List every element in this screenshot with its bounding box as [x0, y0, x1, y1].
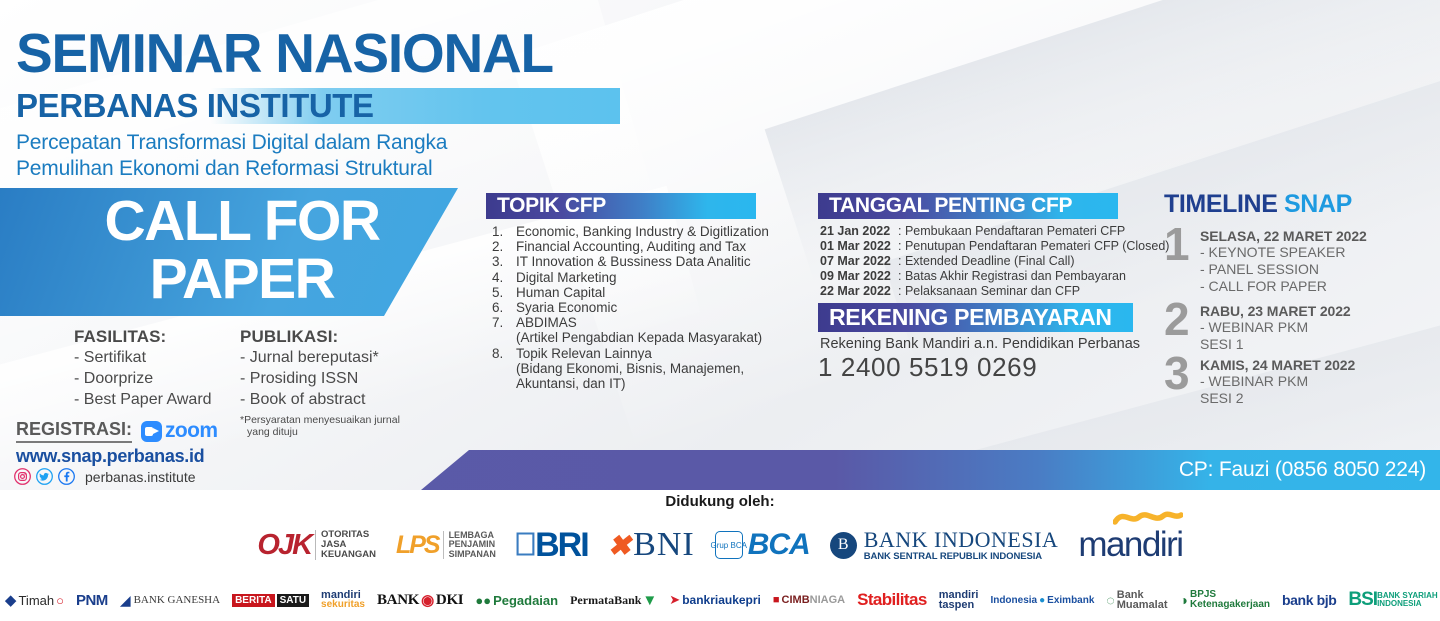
call-for-paper-text: CALL FOR PAPER	[62, 192, 422, 308]
list-item: 3.IT Innovation & Bussiness Data Analiti…	[492, 254, 792, 269]
banner-line-1: CALL FOR	[62, 192, 422, 250]
timeline-title-a: TIMELINE	[1164, 190, 1284, 218]
timeline-date: SELASA, 22 MARET 2022	[1200, 228, 1367, 244]
logo-timah: ◆Timah○	[5, 591, 64, 609]
registrasi-row: REGISTRASI: zoom	[16, 419, 217, 443]
timeline-item: 2 RABU, 23 MARET 2022 - WEBINAR PKM SESI…	[1164, 299, 1351, 353]
desc-cell: : Extended Deadline (Final Call)	[898, 254, 1074, 269]
list-text: Economic, Banking Industry & Digitlizati…	[516, 224, 769, 239]
topik-list: 1.Economic, Banking Industry & Digitliza…	[492, 224, 792, 391]
desc-cell: : Batas Akhir Registrasi dan Pembayaran	[898, 269, 1126, 284]
logo-bsi: BSIBANK SYARIAHINDONESIA	[1348, 589, 1437, 611]
timeline-line: - KEYNOTE SPEAKER	[1200, 244, 1367, 261]
bi-name: BANK INDONESIA	[864, 529, 1059, 551]
list-text: IT Innovation & Bussiness Data Analitic	[516, 254, 751, 269]
table-row: 01 Mar 2022: Penutupan Pendaftaran Pemat…	[820, 239, 1160, 254]
pegadaian-wordmark: Pegadaian	[493, 593, 558, 608]
permata-wordmark: PermataBank	[570, 593, 641, 608]
list-subtext: Akuntansi, dan IT)	[492, 376, 792, 391]
logo-mandiri-sekuritas: mandirisekuritas	[321, 590, 365, 610]
list-item: 8.Topik Relevan Lainnya	[492, 346, 792, 361]
timeline-line: SESI 2	[1200, 390, 1355, 407]
topik-heading: TOPIK CFP	[486, 193, 756, 219]
timeline-item: 1 SELASA, 22 MARET 2022 - KEYNOTE SPEAKE…	[1164, 224, 1367, 295]
timeline-line: SESI 1	[1200, 336, 1351, 353]
bjb-wordmark: bank bjb	[1282, 592, 1336, 608]
logo-bni: ✖ BNI	[608, 526, 695, 564]
cimb-a: CIMB	[782, 594, 810, 606]
bni-wordmark: BNI	[633, 526, 695, 564]
list-number: 1.	[492, 224, 516, 239]
fasilitas-heading: FASILITAS:	[74, 327, 212, 347]
website-link[interactable]: www.snap.perbanas.id	[16, 446, 204, 467]
video-camera-icon	[141, 421, 162, 442]
ojk-text-3: KEUANGAN	[321, 550, 376, 560]
bi-tagline: BANK SENTRAL REPUBLIK INDONESIA	[864, 551, 1059, 562]
bpjs-text: BPJSKetenagakerjaan	[1190, 590, 1270, 610]
bpjs-b: Ketenagakerjaan	[1190, 600, 1270, 610]
logo-bank-dki: BANK◉DKI	[377, 591, 463, 610]
bni-glyph: ✖	[608, 529, 631, 562]
mu-b: Muamalat	[1117, 600, 1168, 611]
logo-indonesia-eximbank: Indonesia●Eximbank	[990, 595, 1094, 606]
zoom-logo[interactable]: zoom	[141, 419, 217, 443]
facebook-icon[interactable]	[58, 468, 75, 485]
registrasi-label: REGISTRASI:	[16, 419, 132, 443]
publikasi-item: - Jurnal bereputasi*	[240, 347, 400, 368]
description-line-2: Pemulihan Ekonomi dan Reformasi Struktur…	[16, 156, 656, 182]
list-text: Financial Accounting, Auditing and Tax	[516, 239, 746, 254]
ms-b: sekuritas	[321, 600, 365, 610]
social-row: perbanas.institute	[14, 468, 196, 485]
bsi-wordmark: BSI	[1348, 589, 1377, 611]
timeline-number: 3	[1164, 353, 1200, 407]
pnm-wordmark: PNM	[76, 592, 108, 609]
publikasi-item: - Prosiding ISSN	[240, 368, 400, 389]
poster-root: SEMINAR NASIONAL PERBANAS INSTITUTE Perc…	[0, 0, 1440, 621]
bsi-text: BANK SYARIAHINDONESIA	[1377, 592, 1438, 609]
timeline-line: - PANEL SESSION	[1200, 261, 1367, 278]
timeline-body: KAMIS, 24 MARET 2022 - WEBINAR PKM SESI …	[1200, 353, 1355, 407]
zoom-wordmark: zoom	[165, 419, 217, 443]
logo-pnm: PNM	[76, 592, 108, 609]
list-text: Human Capital	[516, 285, 605, 300]
fasilitas-item: - Sertifikat	[74, 347, 212, 368]
bca-wordmark: BCA	[748, 528, 810, 562]
timeline-line: - WEBINAR PKM	[1200, 373, 1355, 390]
riau-wordmark: bankriaukepri	[682, 593, 761, 607]
supporters-secondary-row: bank✦victoria ◆Timah○ PNM ◢BANK GANESHA …	[0, 583, 1440, 617]
tanggal-penting-list: 21 Jan 2022: Pembukaan Pendaftaran Pemat…	[820, 224, 1160, 299]
timeline-date: RABU, 23 MARET 2022	[1200, 303, 1351, 319]
list-item: 5.Human Capital	[492, 285, 792, 300]
bri-wordmark: BRI	[535, 526, 588, 565]
date-cell: 09 Mar 2022	[820, 269, 898, 284]
publikasi-item: - Book of abstract	[240, 389, 400, 410]
desc-cell: : Penutupan Pendaftaran Pemateri CFP (Cl…	[898, 239, 1169, 254]
list-number: 8.	[492, 346, 516, 361]
bsi-sub: INDONESIA	[1377, 600, 1438, 609]
stabilitas-wordmark: Stabilitas	[857, 590, 927, 610]
page-description: Percepatan Transformasi Digital dalam Ra…	[16, 130, 656, 182]
date-cell: 21 Jan 2022	[820, 224, 898, 239]
supporters-primary-row: OJK OTORITAS JASA KEUANGAN LPS LEMBAGA P…	[0, 512, 1440, 578]
timeline-line: - WEBINAR PKM	[1200, 319, 1351, 336]
lps-text: LEMBAGA PENJAMIN SIMPANAN	[443, 531, 496, 560]
desc-cell: : Pembukaan Pendaftaran Pemateri CFP	[898, 224, 1125, 239]
logo-stabilitas: Stabilitas	[857, 590, 927, 610]
timeline-number: 1	[1164, 224, 1200, 295]
list-text: ABDIMAS	[516, 315, 577, 330]
page-subtitle: PERBANAS INSTITUTE	[16, 88, 374, 124]
logo-bank-bjb: bank bjb	[1282, 592, 1336, 608]
bank-indonesia-seal-icon: B	[830, 532, 857, 559]
ojk-text: OTORITAS JASA KEUANGAN	[315, 530, 376, 560]
logo-bpjs-ketenagakerjaan: ◑BPJSKetenagakerjaan	[1180, 590, 1271, 610]
instagram-icon[interactable]	[14, 468, 31, 485]
timeline-body: SELASA, 22 MARET 2022 - KEYNOTE SPEAKER …	[1200, 224, 1367, 295]
lps-text-3: SIMPANAN	[449, 550, 496, 560]
date-cell: 01 Mar 2022	[820, 239, 898, 254]
mt-b: taspen	[939, 600, 979, 610]
rekening-number: 1 2400 5519 0269	[818, 352, 1037, 383]
list-item: 6.Syaria Economic	[492, 300, 792, 315]
table-row: 09 Mar 2022: Batas Akhir Registrasi dan …	[820, 269, 1160, 284]
page-title: SEMINAR NASIONAL	[16, 26, 553, 81]
logo-pegadaian: ●●Pegadaian	[475, 593, 558, 608]
ex-b: Eximbank	[1047, 595, 1094, 606]
logo-bank-ganesha: ◢BANK GANESHA	[120, 592, 220, 609]
list-item: 4.Digital Marketing	[492, 270, 792, 285]
logo-bca: Grup BCA BCA	[715, 528, 810, 562]
lps-mark: LPS	[396, 531, 439, 560]
eximbank-text: Indonesia●Eximbank	[990, 595, 1094, 606]
table-row: 07 Mar 2022: Extended Deadline (Final Ca…	[820, 254, 1160, 269]
list-number: 6.	[492, 300, 516, 315]
table-row: 22 Mar 2022: Pelaksanaan Seminar dan CFP	[820, 284, 1160, 299]
tanggal-penting-heading: TANGGAL PENTING CFP	[818, 193, 1118, 219]
timeline-line: - CALL FOR PAPER	[1200, 278, 1367, 295]
date-cell: 22 Mar 2022	[820, 284, 898, 299]
list-item: 7.ABDIMAS	[492, 315, 792, 330]
list-number: 5.	[492, 285, 516, 300]
description-line-1: Percepatan Transformasi Digital dalam Ra…	[16, 130, 656, 156]
taspen-text: mandiritaspen	[939, 590, 979, 610]
logo-mandiri-taspen: mandiritaspen	[939, 590, 979, 610]
logo-bri: ⎕ BRI	[516, 526, 588, 565]
publikasi-heading: PUBLIKASI:	[240, 327, 400, 347]
list-number: 2.	[492, 239, 516, 254]
dki-b: DKI	[436, 592, 463, 609]
list-item: 2.Financial Accounting, Auditing and Tax	[492, 239, 792, 254]
social-handle[interactable]: perbanas.institute	[85, 469, 196, 485]
timeline-title-b: SNAP	[1284, 190, 1352, 218]
list-number: 3.	[492, 254, 516, 269]
banner-line-2: PAPER	[62, 250, 422, 308]
timeline-number: 2	[1164, 299, 1200, 353]
mandiri-wordmark: mandiri	[1078, 525, 1182, 565]
list-number: 7.	[492, 315, 516, 330]
logo-lps: LPS LEMBAGA PENJAMIN SIMPANAN	[396, 531, 496, 560]
fasilitas-item: - Doorprize	[74, 368, 212, 389]
publikasi-footnote: *Persyaratan menyesuaikan jurnal yang di…	[240, 414, 400, 438]
supporters-title: Didukung oleh:	[0, 493, 1440, 510]
list-text: Digital Marketing	[516, 270, 617, 285]
timeline-title: TIMELINE SNAP	[1164, 190, 1352, 219]
logo-bank-indonesia: B BANK INDONESIA BANK SENTRAL REPUBLIK I…	[830, 529, 1059, 562]
bca-flower-icon: Grup BCA	[715, 531, 743, 559]
ex-a: Indonesia	[990, 595, 1037, 606]
logo-bank-muamalat: ◌BankMuamalat	[1106, 590, 1167, 611]
ojk-mark: OJK	[257, 529, 311, 562]
berita-word: BERITA	[232, 594, 274, 607]
logo-cimb-niaga: ■CIMBNIAGA	[773, 594, 845, 606]
date-cell: 07 Mar 2022	[820, 254, 898, 269]
list-number: 4.	[492, 270, 516, 285]
logo-ojk: OJK OTORITAS JASA KEUANGAN	[257, 529, 376, 562]
cimb-b: NIAGA	[810, 594, 845, 606]
list-text: Syaria Economic	[516, 300, 617, 315]
rekening-heading: REKENING PEMBAYARAN	[818, 303, 1133, 332]
bank-indonesia-text: BANK INDONESIA BANK SENTRAL REPUBLIK IND…	[864, 529, 1059, 562]
timah-text: Timah	[18, 593, 54, 608]
muamalat-text: BankMuamalat	[1117, 590, 1168, 611]
list-text: Topik Relevan Lainnya	[516, 346, 652, 361]
contact-text: CP: Fauzi (0856 8050 224)	[1179, 450, 1426, 490]
footnote-line-1: *Persyaratan menyesuaikan jurnal	[240, 414, 400, 426]
list-item: 1.Economic, Banking Industry & Digitliza…	[492, 224, 792, 239]
mandiri-wave-icon	[1113, 511, 1183, 526]
logo-berita-satu: BERITASATU	[232, 594, 309, 607]
desc-cell: : Pelaksanaan Seminar dan CFP	[898, 284, 1080, 299]
mandiri-sekuritas-text: mandirisekuritas	[321, 590, 365, 610]
list-subtext: (Artikel Pengabdian Kepada Masyarakat)	[492, 330, 792, 345]
fasilitas-item: - Best Paper Award	[74, 389, 212, 410]
timeline-item: 3 KAMIS, 24 MARET 2022 - WEBINAR PKM SES…	[1164, 353, 1355, 407]
footnote-line-2: yang dituju	[240, 426, 400, 438]
table-row: 21 Jan 2022: Pembukaan Pendaftaran Pemat…	[820, 224, 1160, 239]
bri-glyph: ⎕	[516, 526, 535, 564]
timeline-body: RABU, 23 MARET 2022 - WEBINAR PKM SESI 1	[1200, 299, 1351, 353]
list-subtext: (Bidang Ekonomi, Bisnis, Manajemen,	[492, 361, 792, 376]
rekening-note: Rekening Bank Mandiri a.n. Pendidikan Pe…	[820, 336, 1140, 352]
dki-a: BANK	[377, 592, 419, 609]
logo-bank-riau-kepri: ➤bankriaukepri	[669, 592, 761, 608]
satu-word: SATU	[277, 594, 309, 607]
logo-mandiri: mandiri	[1078, 525, 1182, 565]
fasilitas-block: FASILITAS: - Sertifikat - Doorprize - Be…	[74, 327, 212, 410]
ganesha-wordmark: BANK GANESHA	[134, 594, 220, 606]
logo-permatabank: PermataBank▼	[570, 592, 657, 609]
publikasi-block: PUBLIKASI: - Jurnal bereputasi* - Prosid…	[240, 327, 400, 438]
twitter-icon[interactable]	[36, 468, 53, 485]
timeline-date: KAMIS, 24 MARET 2022	[1200, 357, 1355, 373]
